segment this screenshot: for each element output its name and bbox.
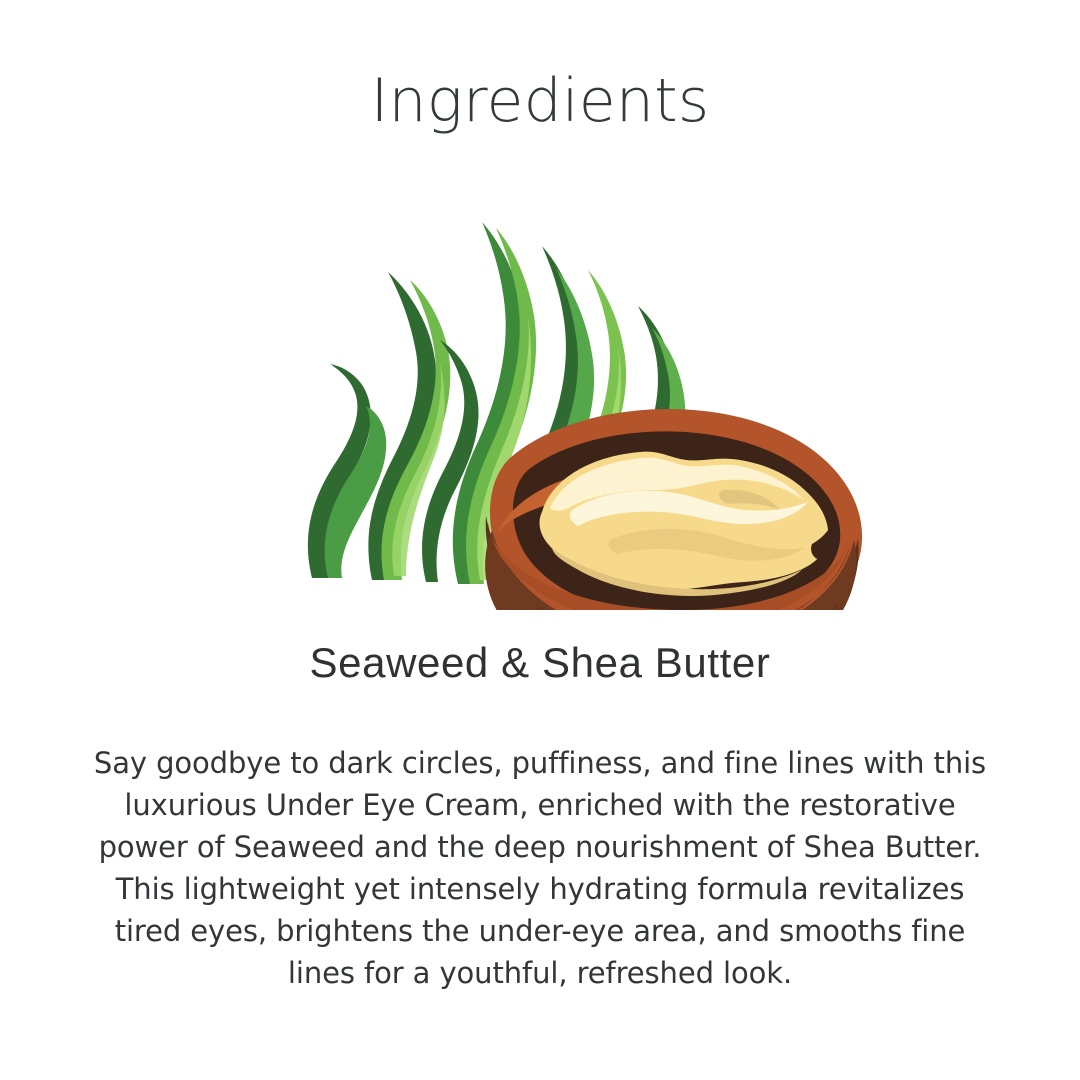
- ingredient-name: Seaweed & Shea Butter: [0, 639, 1080, 687]
- description-line: This lightweight yet intensely hydrating…: [88, 868, 992, 910]
- description-line: power of Seaweed and the deep nourishmen…: [88, 826, 992, 868]
- ingredient-description: Say goodbye to dark circles, puffiness, …: [88, 742, 992, 994]
- shea-nut-half: [485, 409, 862, 610]
- description-line: tired eyes, brightens the under-eye area…: [88, 910, 992, 952]
- ingredients-card: Ingredients: [0, 0, 1080, 1080]
- seaweed-and-shea-nut-illustration: [140, 140, 940, 610]
- description-line: Say goodbye to dark circles, puffiness, …: [88, 742, 992, 784]
- description-line: luxurious Under Eye Cream, enriched with…: [88, 784, 992, 826]
- description-line: lines for a youthful, refreshed look.: [88, 952, 992, 994]
- page-title: Ingredients: [0, 68, 1080, 134]
